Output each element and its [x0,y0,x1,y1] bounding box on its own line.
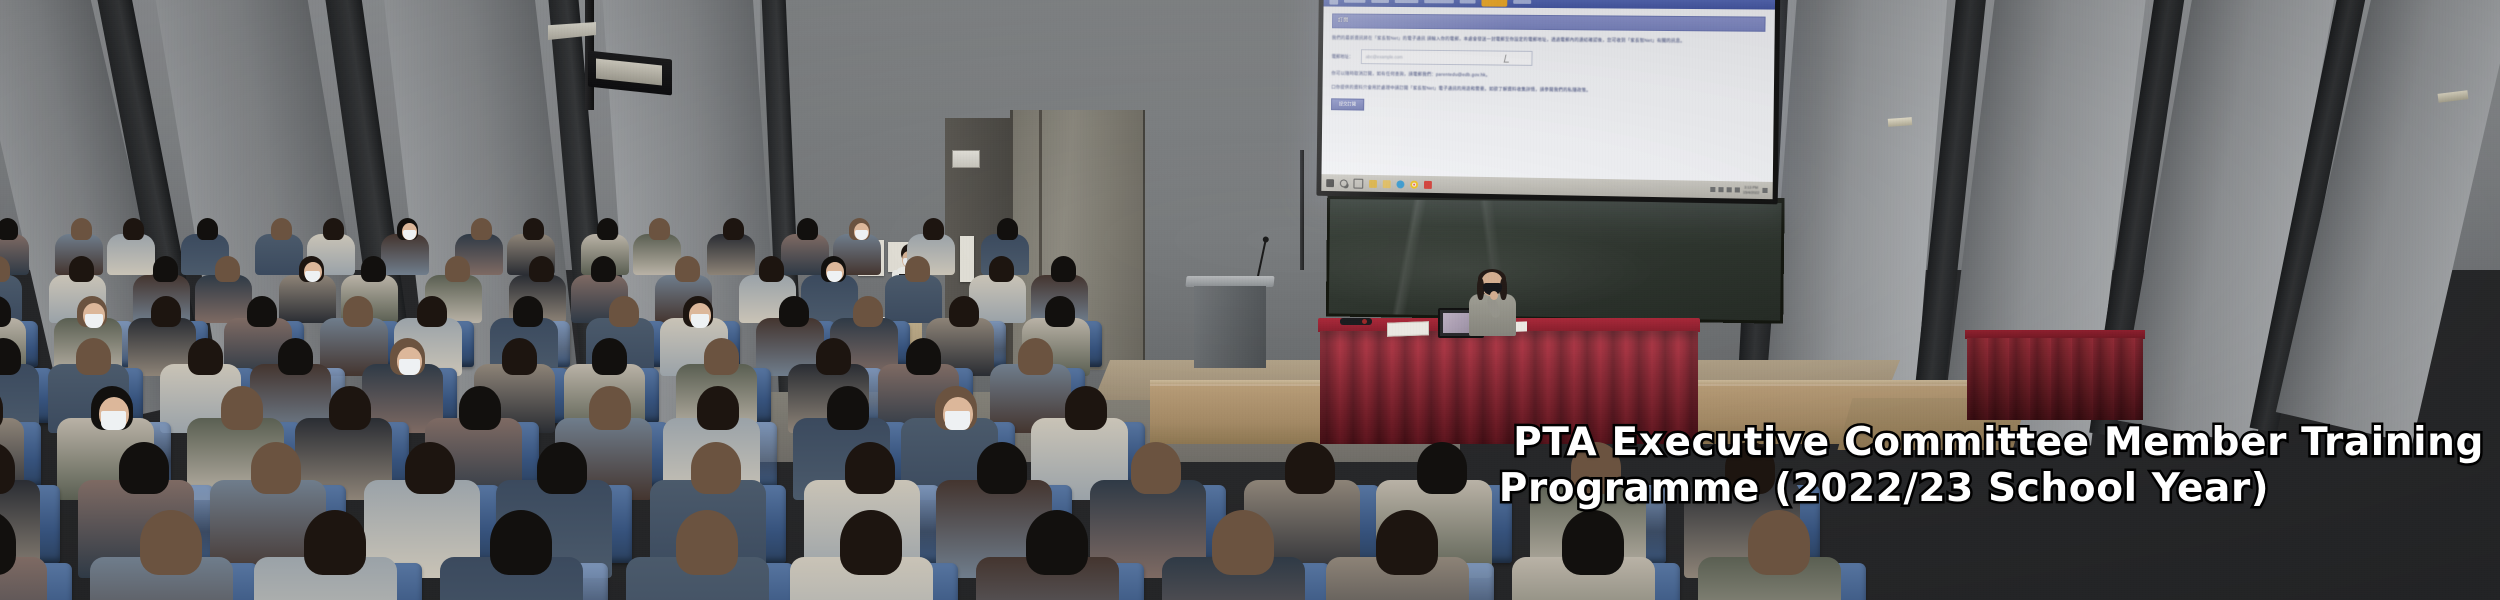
start-icon[interactable] [1326,179,1334,187]
notifications-icon[interactable] [1762,188,1767,193]
nav-item-active[interactable] [1481,0,1507,6]
audience-member [648,510,791,600]
audience-member [0,510,69,600]
audience-hair [188,338,223,375]
audience-hair [471,218,492,240]
audience-hair [76,338,111,375]
audience-member [1720,510,1863,600]
audience-hair [459,386,501,430]
file-explorer-icon[interactable] [1369,179,1377,187]
audience-hair [140,510,202,575]
audience-face-mask [399,359,420,375]
intro-paragraph: 我們的最新資訊將在「家長智Net」的電子通訊 請輸入你的電郵，本處會發送一封電郵… [1332,34,1766,46]
nav-item[interactable] [1460,0,1476,4]
audience-face-mask [85,314,103,328]
clock-date: 15/4/2022 [1743,190,1759,194]
audience-hair [1018,338,1053,375]
pdf-icon[interactable] [1424,180,1432,188]
audience-member [112,510,255,600]
chrome-icon[interactable] [1410,180,1418,188]
audience-hair [537,442,587,494]
email-field-label: 電郵地址： [1332,54,1353,60]
nav-item[interactable] [1344,0,1365,3]
folder-icon[interactable] [1383,180,1391,188]
audience-hair [1045,296,1075,327]
audience [0,210,2500,600]
privacy-paragraph: 口你提供的資料只會用於處理中請訂閱「家長智Net」電子通訊的用途和需要。如欲了解… [1331,84,1764,97]
audience-face-mask [101,411,126,430]
audience-hair [304,510,366,575]
audience-hair [723,218,744,240]
volume-icon[interactable] [1735,187,1740,192]
audience-hair [827,386,869,430]
audience-hair [123,218,144,240]
audience-hair [119,442,169,494]
audience-hair [405,442,455,494]
audience-hair [490,510,552,575]
audience-hair [1748,510,1810,575]
network-icon[interactable] [1727,187,1732,192]
photo-banner: 訂閱 我們的最新資訊將在「家長智Net」的電子通訊 請輸入你的電郵，本處會發送一… [0,0,2500,600]
audience-hair [853,296,883,327]
audience-hair [591,256,616,282]
exit-sign [952,150,980,168]
audience-hair [949,296,979,327]
audience-hair [592,338,627,375]
audience-hair [361,256,386,282]
audience-hair [1376,510,1438,575]
audience-hair [977,442,1027,494]
audience-hair [0,218,18,240]
audience-hair [1212,510,1274,575]
audience-member [1184,510,1327,600]
audience-hair [221,386,263,430]
subscribe-button[interactable]: 提交訂閱 [1331,99,1364,111]
wall-lamp-center [1888,117,1912,127]
page-body: 訂閱 我們的最新資訊將在「家長智Net」的電子通訊 請輸入你的電郵，本處會發送一… [1321,6,1775,199]
audience-hair [329,386,371,430]
nav-item[interactable] [1395,0,1419,3]
audience-hair [779,296,809,327]
nav-item[interactable] [1371,0,1389,3]
audience-hair [704,338,739,375]
audience-hair [513,296,543,327]
chevron-up-icon[interactable] [1718,187,1723,192]
audience-hair [906,338,941,375]
audience-hair [71,218,92,240]
audience-hair [609,296,639,327]
audience-hair [417,296,447,327]
audience-hair [0,256,10,282]
audience-hair [816,338,851,375]
audience-member [1534,510,1677,600]
audience-hair [649,218,670,240]
panel-heading-text: 訂閱 [1338,18,1349,23]
email-input[interactable]: abc@example.com [1361,49,1533,66]
audience-hair [445,256,470,282]
audience-hair [1725,442,1775,494]
audience-hair [151,296,181,327]
audience-hair [69,256,94,282]
audience-hair [997,218,1018,240]
audience-hair [343,296,373,327]
audience-member [276,510,419,600]
audience-member [1348,510,1491,600]
audience-member [998,510,1141,600]
audience-hair [0,338,21,375]
audience-hair [759,256,784,282]
audience-hair [989,256,1014,282]
taskbar-clock[interactable]: 3:13 PM 15/4/2022 [1743,186,1759,195]
audience-hair [502,338,537,375]
audience-hair [197,218,218,240]
audience-hair [247,296,277,327]
audience-hair [597,218,618,240]
audience-hair [0,442,15,494]
email-field-row: 電郵地址： abc@example.com [1332,49,1766,68]
audience-hair [153,256,178,282]
audience-hair [1562,510,1624,575]
audience-hair [1285,442,1335,494]
system-tray[interactable]: 3:13 PM 15/4/2022 [1710,185,1767,195]
pen-icon[interactable] [1710,187,1715,192]
projection-screen: 訂閱 我們的最新資訊將在「家長智Net」的電子通訊 請輸入你的電郵，本處會發送一… [1316,0,1780,204]
projected-webpage: 訂閱 我們的最新資訊將在「家長智Net」的電子通訊 請輸入你的電郵，本處會發送一… [1321,0,1775,199]
audience-hair [691,442,741,494]
contact-paragraph: 你可以隨時取消訂閱，如有任何查詢，請電郵我們：parentedu@edb.gov… [1331,70,1764,83]
audience-hair [215,256,240,282]
audience-hair [0,296,11,327]
audience-hair [676,510,738,575]
audience-hair [845,442,895,494]
audience-hair [1131,442,1181,494]
audience-hair [1571,442,1621,494]
audience-hair [1051,256,1076,282]
audience-hair [1417,442,1467,494]
audience-hair [589,386,631,430]
panel-heading: 訂閱 [1332,13,1766,31]
audience-hair [529,256,554,282]
audience-hair [251,442,301,494]
task-view-icon[interactable] [1353,178,1363,188]
audience-hair [697,386,739,430]
nav-item[interactable] [1424,0,1454,3]
email-placeholder: abc@example.com [1366,54,1403,59]
audience-hair [271,218,292,240]
audience-member [462,510,605,600]
audience-hair [523,218,544,240]
site-logo-icon [1329,0,1338,4]
audience-face-mask [691,314,709,328]
nav-item[interactable] [1513,0,1531,4]
mouse-cursor-icon [1504,55,1511,63]
audience-hair [840,510,902,575]
audience-hair [1026,510,1088,575]
edge-icon[interactable] [1396,180,1404,188]
audience-hair [1065,386,1107,430]
audience-hair [278,338,313,375]
audience-hair [675,256,700,282]
audience-face-mask [945,411,970,430]
audience-hair [797,218,818,240]
audience-member [812,510,955,600]
audience-hair [323,218,344,240]
audience-hair [923,218,944,240]
lecture-hall-scene: 訂閱 我們的最新資訊將在「家長智Net」的電子通訊 請輸入你的電郵，本處會發送一… [0,0,2500,600]
search-icon[interactable] [1340,179,1348,187]
audience-hair [905,256,930,282]
